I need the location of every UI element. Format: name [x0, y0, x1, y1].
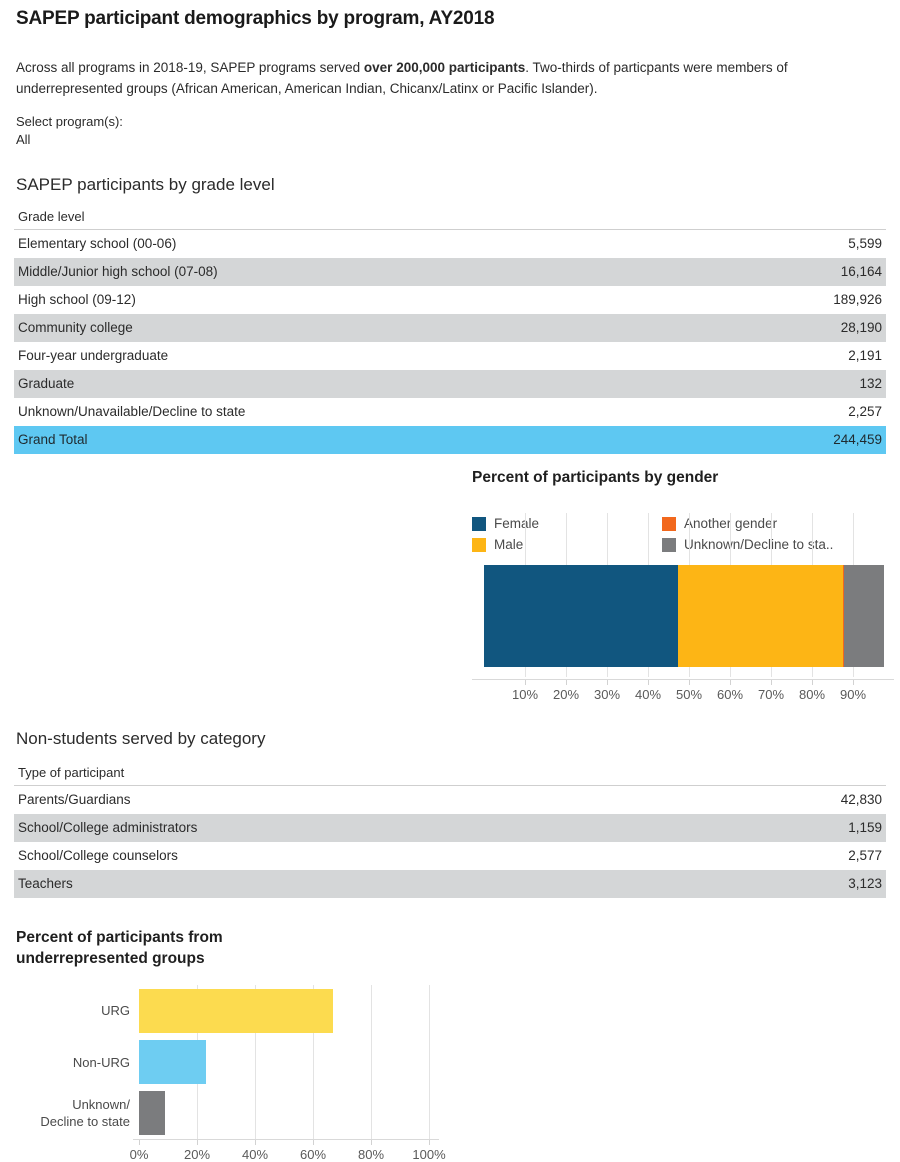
x-axis-tick-label: 40%: [635, 687, 661, 702]
table-row[interactable]: Unknown/Unavailable/Decline to state2,25…: [14, 398, 886, 426]
row-label: High school (09-12): [14, 286, 654, 314]
participant-type-column-header[interactable]: Type of participant: [14, 763, 782, 786]
table-row-total[interactable]: Grand Total244,459: [14, 426, 886, 454]
legend-swatch-icon: [662, 517, 676, 531]
legend-swatch-icon: [662, 538, 676, 552]
row-value: 1,159: [782, 814, 886, 842]
x-axis-tick-label: 60%: [717, 687, 743, 702]
table-row[interactable]: Four-year undergraduate2,191: [14, 342, 886, 370]
x-axis-tick-label: 80%: [358, 1147, 384, 1162]
gender-stack-segment[interactable]: [484, 565, 678, 667]
table-row[interactable]: Community college28,190: [14, 314, 886, 342]
x-axis-tick: [771, 680, 772, 685]
gender-chart-title: Percent of participants by gender: [472, 467, 718, 488]
row-value: 16,164: [654, 258, 886, 286]
table-row[interactable]: High school (09-12)189,926: [14, 286, 886, 314]
row-label: School/College administrators: [14, 814, 782, 842]
table-row[interactable]: Elementary school (00-06)5,599: [14, 230, 886, 259]
program-filter[interactable]: Select program(s): All: [16, 113, 123, 149]
row-value: 132: [654, 370, 886, 398]
x-axis-tick: [139, 1140, 140, 1145]
gender-chart: Percent of participants by gender Female…: [460, 460, 900, 715]
legend-swatch-icon: [472, 538, 486, 552]
program-filter-label: Select program(s):: [16, 114, 123, 129]
legend-item[interactable]: Female: [472, 513, 539, 534]
legend-item[interactable]: Another gender: [662, 513, 833, 534]
row-value: 189,926: [654, 286, 886, 314]
row-label: Teachers: [14, 870, 782, 898]
x-axis-tick: [730, 680, 731, 685]
x-axis-line: [133, 1139, 439, 1140]
gender-stacked-bar[interactable]: [484, 565, 884, 667]
urg-category-label: Unknown/ Decline to state: [0, 1096, 130, 1130]
urg-bar[interactable]: [139, 1040, 206, 1084]
row-value: 2,257: [654, 398, 886, 426]
urg-bar[interactable]: [139, 989, 333, 1033]
row-label: Grand Total: [14, 426, 654, 454]
urg-bar[interactable]: [139, 1091, 165, 1135]
x-axis-tick: [255, 1140, 256, 1145]
row-label: Parents/Guardians: [14, 786, 782, 815]
table-row[interactable]: Graduate132: [14, 370, 886, 398]
x-axis-tick-label: 20%: [184, 1147, 210, 1162]
x-axis-tick-label: 10%: [512, 687, 538, 702]
row-label: Community college: [14, 314, 654, 342]
row-value: 42,830: [782, 786, 886, 815]
intro-text-highlight: over 200,000 participants: [364, 60, 525, 75]
x-axis-tick: [689, 680, 690, 685]
x-axis-tick: [313, 1140, 314, 1145]
x-axis-tick: [525, 680, 526, 685]
program-filter-value[interactable]: All: [16, 131, 123, 149]
row-label: Middle/Junior high school (07-08): [14, 258, 654, 286]
legend-label: Male: [494, 537, 523, 552]
gender-stack-segment[interactable]: [844, 565, 884, 667]
row-value: 28,190: [654, 314, 886, 342]
grade-level-column-header[interactable]: Grade level: [14, 207, 654, 230]
legend-label: Female: [494, 516, 539, 531]
row-value: 2,577: [782, 842, 886, 870]
gender-stack-segment[interactable]: [678, 565, 843, 667]
nonstudent-table: Type of participant Parents/Guardians42,…: [14, 763, 886, 898]
grade-level-table: Grade level Elementary school (00-06)5,5…: [14, 207, 886, 454]
grade-level-section-heading: SAPEP participants by grade level: [16, 175, 275, 195]
legend-column: FemaleMale: [472, 513, 539, 555]
x-axis-tick: [566, 680, 567, 685]
x-axis-tick: [853, 680, 854, 685]
urg-category-label: URG: [0, 1002, 130, 1019]
row-value: 2,191: [654, 342, 886, 370]
gridline: [371, 985, 372, 1139]
x-axis-tick-label: 70%: [758, 687, 784, 702]
intro-text-lead: Across all programs in 2018-19, SAPEP pr…: [16, 60, 364, 75]
urg-chart: Percent of participants from underrepres…: [0, 460, 460, 715]
x-axis-tick-label: 30%: [594, 687, 620, 702]
legend-swatch-icon: [472, 517, 486, 531]
row-label: Unknown/Unavailable/Decline to state: [14, 398, 654, 426]
page-title: SAPEP participant demographics by progra…: [16, 8, 494, 30]
table-row[interactable]: Teachers3,123: [14, 870, 886, 898]
x-axis-tick: [371, 1140, 372, 1145]
intro-paragraph: Across all programs in 2018-19, SAPEP pr…: [16, 57, 856, 99]
nonstudent-section-heading: Non-students served by category: [16, 729, 265, 749]
x-axis-tick: [197, 1140, 198, 1145]
x-axis-line: [472, 679, 894, 680]
x-axis-tick-label: 80%: [799, 687, 825, 702]
row-value: 3,123: [782, 870, 886, 898]
table-row[interactable]: Parents/Guardians42,830: [14, 786, 886, 815]
table-header-row: Type of participant: [14, 763, 886, 786]
gridline: [429, 985, 430, 1139]
urg-category-label: Non-URG: [0, 1054, 130, 1071]
x-axis-tick-label: 100%: [412, 1147, 445, 1162]
row-value: 5,599: [654, 230, 886, 259]
grade-value-column-header[interactable]: [654, 207, 886, 230]
row-label: School/College counselors: [14, 842, 782, 870]
x-axis-tick: [648, 680, 649, 685]
table-row[interactable]: School/College counselors2,577: [14, 842, 886, 870]
x-axis-tick: [812, 680, 813, 685]
legend-item[interactable]: Male: [472, 534, 539, 555]
table-row[interactable]: School/College administrators1,159: [14, 814, 886, 842]
row-label: Four-year undergraduate: [14, 342, 654, 370]
urg-chart-title: Percent of participants from underrepres…: [16, 927, 316, 969]
nonstudent-value-column-header[interactable]: [782, 763, 886, 786]
legend-column: Another genderUnknown/Decline to sta..: [662, 513, 833, 555]
x-axis-tick-label: 90%: [840, 687, 866, 702]
x-axis-tick: [429, 1140, 430, 1145]
table-header-row: Grade level: [14, 207, 886, 230]
table-row[interactable]: Middle/Junior high school (07-08)16,164: [14, 258, 886, 286]
x-axis-tick-label: 50%: [676, 687, 702, 702]
x-axis-tick-label: 60%: [300, 1147, 326, 1162]
x-axis-tick-label: 40%: [242, 1147, 268, 1162]
legend-item[interactable]: Unknown/Decline to sta..: [662, 534, 833, 555]
gender-plot-area: 10%20%30%40%50%60%70%80%90%: [472, 565, 894, 667]
row-value: 244,459: [654, 426, 886, 454]
x-axis-tick-label: 0%: [130, 1147, 149, 1162]
x-axis-tick: [607, 680, 608, 685]
row-label: Elementary school (00-06): [14, 230, 654, 259]
legend-label: Unknown/Decline to sta..: [684, 537, 833, 552]
urg-plot-area: URGNon-URGUnknown/ Decline to state0%20%…: [139, 985, 429, 1139]
x-axis-tick-label: 20%: [553, 687, 579, 702]
row-label: Graduate: [14, 370, 654, 398]
